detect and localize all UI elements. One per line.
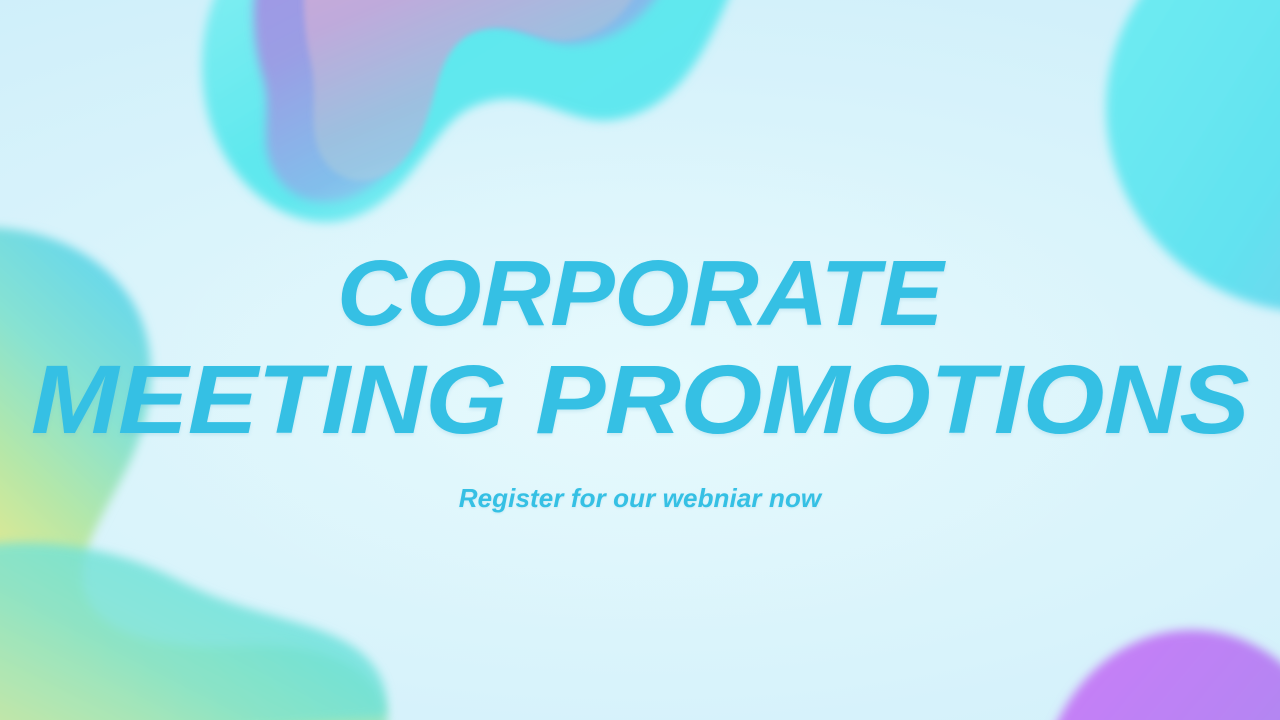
top-left-lavender-blob	[254, 0, 682, 202]
headline-line-1: CORPORATE	[0, 246, 1280, 341]
subtitle-call-to-action: Register for our webniar now	[0, 483, 1280, 514]
poster-canvas: CORPORATE MEETING PROMOTIONS Register fo…	[0, 0, 1280, 720]
top-left-cyan-blob	[202, 0, 745, 222]
headline-line-2: MEETING PROMOTIONS	[0, 351, 1280, 450]
top-left-mauve-blob	[304, 0, 653, 181]
bottom-left-teal-accent	[0, 543, 387, 720]
poster-text-block: CORPORATE MEETING PROMOTIONS Register fo…	[0, 246, 1280, 514]
bottom-right-violet-circle	[1040, 630, 1280, 720]
